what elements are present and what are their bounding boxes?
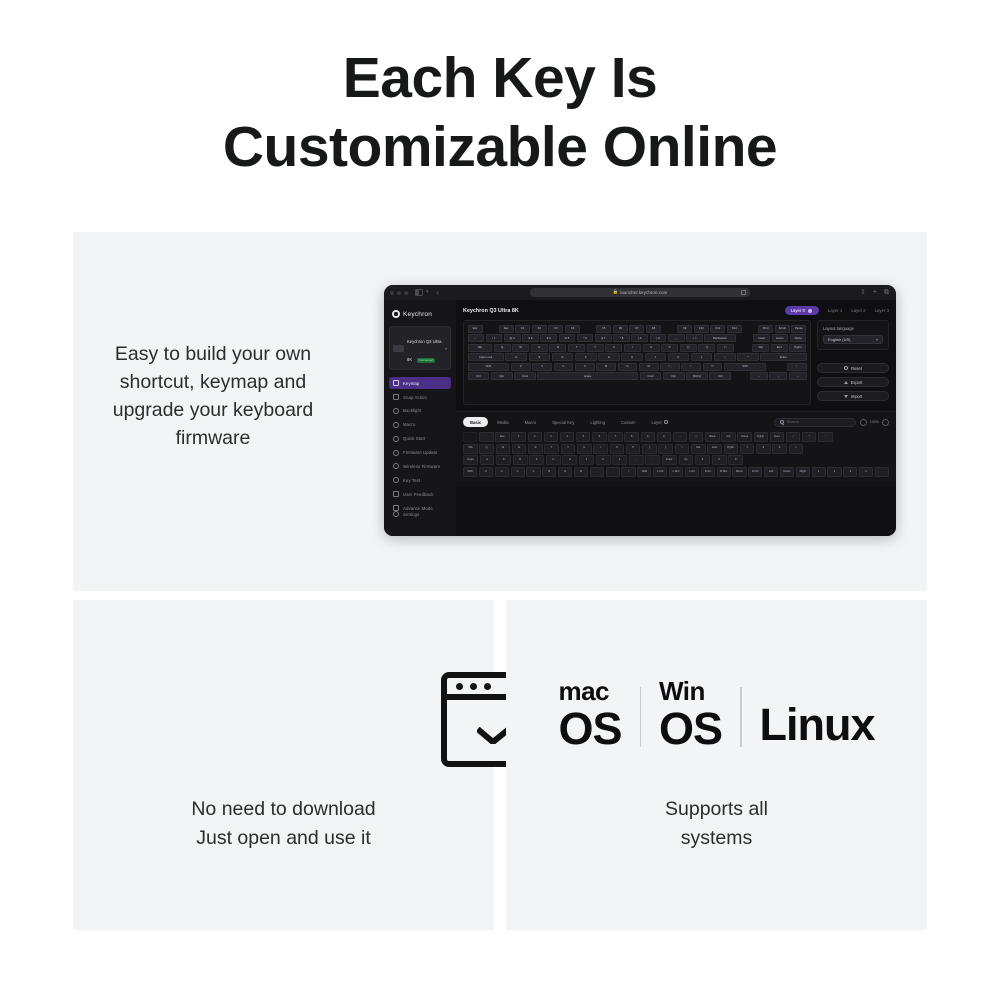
keycap[interactable]: ( 9 — [631, 334, 648, 342]
keycap[interactable]: < , — [660, 363, 680, 371]
picker-key[interactable]: ' — [645, 455, 660, 465]
picker-key[interactable]: - — [673, 432, 687, 442]
picker-tab-label: Media — [497, 420, 508, 425]
keycap[interactable]: # 3 — [522, 334, 539, 342]
picker-key[interactable]: 0 — [657, 432, 671, 442]
macos-logo: mac OS — [558, 678, 621, 751]
sidebar-item-label: Snap Action — [403, 395, 427, 400]
keycap[interactable]: ~ ` — [468, 334, 485, 342]
picker-key[interactable]: Back — [705, 432, 719, 442]
keycap[interactable]: T — [568, 344, 585, 352]
keycap[interactable]: F9 — [677, 325, 692, 333]
keyboard-and-sidepanel: EscEscF1F2F3F4F5F6F7F8F9F10F11F12PrintSc… — [463, 320, 889, 405]
keyboard-row: EscEscF1F2F3F4F5F6F7F8F9F10F11F12PrintSc… — [468, 325, 807, 333]
picker-key[interactable]: 3 — [843, 467, 857, 477]
keycap[interactable]: : ; — [714, 353, 736, 361]
picker-key[interactable]: L Alt — [685, 467, 699, 477]
keycap[interactable]: ) 0 — [650, 334, 667, 342]
picker-key[interactable]: L — [612, 455, 627, 465]
keycap[interactable]: S — [529, 353, 551, 361]
picker-key[interactable]: 6 — [592, 432, 606, 442]
picker-key[interactable]: 5 — [576, 432, 590, 442]
headline-line-2: Customizable Online — [0, 113, 1000, 182]
headline-line-1: Each Key Is — [343, 46, 658, 110]
keycap[interactable]: R — [549, 344, 566, 352]
keycap[interactable]: Shift — [468, 363, 510, 371]
feature-panel-os-support — [506, 600, 927, 930]
keycap[interactable]: $ 4 — [540, 334, 557, 342]
picker-key[interactable]: PgDn — [724, 444, 739, 454]
os-logos: mac OS Win OS Linux — [506, 678, 927, 751]
picker-key[interactable]: 7 — [740, 444, 755, 454]
keycap[interactable]: B — [596, 363, 616, 371]
picker-key[interactable]: T — [544, 444, 559, 454]
picker-key[interactable]: X — [495, 467, 509, 477]
keycap[interactable]: F1 — [515, 325, 530, 333]
picker-key[interactable]: 5 — [712, 455, 727, 465]
browser-titlebar: ▾ ‹ 🔒 launcher.keychron.com ⇧ + ⧉ — [384, 285, 896, 300]
picker-key[interactable]: + — [789, 444, 804, 454]
keycap[interactable]: H — [621, 353, 643, 361]
picker-key[interactable]: O — [610, 444, 625, 454]
keycap[interactable]: PgDn — [789, 344, 806, 352]
export-icon — [844, 381, 848, 384]
layer-tab-layer-3[interactable]: Layer 3 — [875, 308, 889, 313]
app-main-area: Keychron Q3 Ultra 8K Layer 0Layer 1Layer… — [456, 300, 896, 536]
picker-key[interactable]: , — [590, 467, 604, 477]
picker-key[interactable]: Up — [679, 455, 694, 465]
picker-key[interactable]: L Win — [669, 467, 683, 477]
keycap[interactable]: F8 — [646, 325, 661, 333]
picker-key[interactable]: Right — [796, 467, 810, 477]
keycap[interactable]: " ' — [737, 353, 759, 361]
picker-key[interactable]: 9 — [772, 444, 787, 454]
picker-key[interactable]: 9 — [641, 432, 655, 442]
keycap[interactable]: > . — [681, 363, 701, 371]
picker-key[interactable]: A — [480, 455, 495, 465]
picker-key-row: `Esc1234567890-=BackInsHomePgUpNum/*- — [463, 432, 889, 442]
keycap[interactable]: F7 — [629, 325, 644, 333]
keycap[interactable]: & 7 — [595, 334, 612, 342]
divider — [740, 687, 742, 747]
picker-key[interactable]: S — [496, 455, 511, 465]
keycap[interactable]: V — [575, 363, 595, 371]
sidebar-item-macro[interactable]: Macro — [389, 419, 451, 431]
layer-tab-layer-0[interactable]: Layer 0 — [785, 306, 819, 315]
picker-tab-label: Basic — [470, 420, 481, 425]
wireless-firmware-icon — [393, 463, 399, 469]
keyboard-row: Caps LockASDFGHJKL: ;" 'Enter — [468, 353, 807, 361]
keycap[interactable]: F12 — [727, 325, 742, 333]
sidebar-nav: KeymapSnap ActionBacklightMacroQuick Sta… — [389, 377, 451, 514]
macos-logo-small: mac — [558, 678, 609, 704]
picker-key[interactable]: E — [512, 444, 527, 454]
keycap[interactable]: → — [789, 372, 807, 380]
picker-tabs: BasicMediaMacroSpecial KeyLightingCustom… — [463, 417, 889, 427]
keycap[interactable]: Ctrl — [468, 372, 490, 380]
picker-tab-basic[interactable]: Basic — [463, 417, 488, 427]
keycap[interactable]: space — [537, 372, 638, 380]
device-status-badge: Connected — [417, 358, 436, 363]
picker-key[interactable]: Ins — [721, 432, 735, 442]
sidebar-item-label: Macro — [403, 422, 415, 427]
refresh-icon[interactable] — [741, 290, 746, 295]
picker-key[interactable]: J — [579, 455, 594, 465]
picker-key[interactable]: W — [496, 444, 511, 454]
picker-key[interactable]: Esc — [495, 432, 509, 442]
picker-key[interactable]: G — [546, 455, 561, 465]
zoom-in-icon[interactable] — [882, 419, 889, 426]
share-icon[interactable]: ⇧ — [860, 289, 866, 296]
picker-key[interactable]: \ — [675, 444, 690, 454]
keycap[interactable]: C — [554, 363, 574, 371]
keycap[interactable]: Scroll — [775, 325, 790, 333]
picker-key[interactable]: H — [562, 455, 577, 465]
picker-key[interactable]: Down — [780, 467, 794, 477]
keyboard-gap — [582, 325, 595, 333]
keycap[interactable]: A — [505, 353, 527, 361]
url-bar[interactable]: 🔒 launcher.keychron.com — [530, 288, 750, 297]
keycap[interactable]: ↑ — [787, 363, 807, 371]
keycap[interactable]: Print — [758, 325, 773, 333]
picker-key[interactable]: . — [606, 467, 620, 477]
picker-key-empty — [848, 432, 860, 442]
picker-key[interactable]: Home — [737, 432, 751, 442]
keycap[interactable]: F4 — [565, 325, 580, 333]
sidebar-item-firmware-update[interactable]: Firmware Update — [389, 446, 451, 458]
keycap[interactable]: N — [618, 363, 638, 371]
picker-key[interactable]: / — [621, 467, 635, 477]
picker-key[interactable]: Tab — [463, 444, 478, 454]
picker-key[interactable]: 8 — [756, 444, 771, 454]
layer-tab-layer-1[interactable]: Layer 1 — [828, 308, 842, 313]
keyboard-layout[interactable]: EscEscF1F2F3F4F5F6F7F8F9F10F11F12PrintSc… — [463, 320, 811, 405]
keycap[interactable]: Cmd — [640, 372, 662, 380]
keyboard-gap — [768, 363, 786, 371]
picker-key[interactable]: Menu — [732, 467, 746, 477]
keycap[interactable]: ! 1 — [486, 334, 503, 342]
keycap[interactable]: _ - — [668, 334, 685, 342]
keycap[interactable]: Z — [511, 363, 531, 371]
picker-key[interactable]: 2 — [528, 432, 542, 442]
keyboard-gap — [736, 344, 751, 352]
picker-key[interactable]: 3 — [544, 432, 558, 442]
keycap[interactable]: D — [552, 353, 574, 361]
sidebar-item-label: Backlight — [403, 408, 421, 413]
picker-key[interactable]: C — [511, 467, 525, 477]
sidebar-item-label: Quick Start — [403, 436, 425, 441]
picker-key[interactable]: 4 — [560, 432, 574, 442]
picker-key[interactable]: P — [626, 444, 641, 454]
macos-logo-big: OS — [558, 706, 621, 751]
picker-tab-lighting[interactable]: Lighting — [583, 417, 612, 427]
picker-tab-label: Custom — [621, 420, 635, 425]
sidebar-item-settings[interactable]: Settings — [389, 508, 451, 522]
keycap[interactable]: | \ — [717, 344, 734, 352]
sidebar-item-label: Wireless Firmware — [403, 464, 440, 469]
keycap[interactable]: Opt — [491, 372, 513, 380]
keycap[interactable]: MO(1) — [686, 372, 708, 380]
keycap[interactable]: L — [691, 353, 713, 361]
keycap[interactable]: Del — [752, 344, 769, 352]
backlight-icon — [393, 408, 399, 414]
keycap[interactable]: % 5 — [559, 334, 576, 342]
picker-key[interactable]: Shift — [463, 467, 477, 477]
keycap[interactable]: F6 — [613, 325, 628, 333]
picker-key[interactable]: Caps — [463, 455, 478, 465]
picker-key[interactable]: R Ctrl — [748, 467, 762, 477]
picker-key[interactable]: ] — [658, 444, 673, 454]
picker-key[interactable]: I — [593, 444, 608, 454]
picker-tab-layer[interactable]: Layer — [644, 417, 674, 427]
keyboard-row: ShiftZXCVBNM< ,> .? /Shift↑ — [468, 363, 807, 371]
keycap[interactable]: } ] — [698, 344, 715, 352]
keycap[interactable]: Y — [587, 344, 604, 352]
quick-start-icon — [393, 436, 399, 442]
picker-key[interactable]: Q — [479, 444, 494, 454]
keycap[interactable]: O — [643, 344, 660, 352]
picker-key[interactable]: End — [707, 444, 722, 454]
reset-icon — [844, 366, 848, 370]
keycap[interactable]: Caps Lock — [468, 353, 504, 361]
keycap[interactable]: Shift — [724, 363, 766, 371]
picker-key-row: ShiftZXCVBNM,./ShiftL CtrlL WinL AltR Al… — [463, 467, 889, 477]
keycap[interactable]: End — [771, 344, 788, 352]
keycap[interactable]: Insert — [753, 334, 770, 342]
export-button[interactable]: Export — [817, 377, 889, 387]
keycap[interactable]: Tab — [468, 344, 493, 352]
device-thumbnail-icon — [393, 345, 404, 352]
picker-key[interactable]: R — [528, 444, 543, 454]
keycap[interactable]: ^ 6 — [577, 334, 594, 342]
picker-key[interactable]: R Alt — [701, 467, 715, 477]
picker-key[interactable]: U — [577, 444, 592, 454]
keycap[interactable]: F11 — [710, 325, 725, 333]
picker-key[interactable]: = — [689, 432, 703, 442]
keycap[interactable]: P — [661, 344, 678, 352]
picker-key-empty — [789, 455, 802, 465]
picker-key-empty — [862, 444, 875, 454]
picker-key[interactable]: N — [558, 467, 572, 477]
picker-key[interactable]: Num — [770, 432, 784, 442]
keyboard-gap — [744, 325, 757, 333]
picker-key[interactable]: 8 — [624, 432, 638, 442]
keycap[interactable]: W — [512, 344, 529, 352]
picker-key[interactable]: R Win — [717, 467, 731, 477]
keycap[interactable]: Esc — [468, 325, 483, 333]
keycap[interactable]: F10 — [694, 325, 709, 333]
picker-key[interactable]: / — [786, 432, 800, 442]
picker-key-empty — [861, 455, 874, 465]
picker-key[interactable]: B — [542, 467, 556, 477]
keycap[interactable]: Opt — [663, 372, 685, 380]
keycap[interactable]: Pause — [791, 325, 806, 333]
picker-key[interactable]: Enter — [662, 455, 677, 465]
zoom-out-icon[interactable] — [860, 419, 867, 426]
window-controls[interactable] — [390, 291, 408, 295]
keycap[interactable]: ↓ — [769, 372, 787, 380]
linux-logo: Linux — [760, 699, 875, 751]
macro-icon — [393, 422, 399, 428]
picker-tab-macro[interactable]: Macro — [518, 417, 544, 427]
chevron-down-icon[interactable]: ▾ — [445, 346, 447, 351]
layer-tabs: Layer 0Layer 1Layer 2Layer 3 — [785, 306, 889, 315]
keycap[interactable]: ? / — [703, 363, 723, 371]
zoom-controls: 100% — [860, 419, 889, 426]
picker-key[interactable]: L Ctrl — [653, 467, 667, 477]
layout-language-select[interactable]: English (US) ▾ — [823, 335, 883, 344]
search-icon — [780, 420, 784, 424]
sidebar-item-label: User Feedback — [403, 492, 433, 497]
firmware-update-icon — [393, 450, 399, 456]
layout-side-panel: Layout language English (US) ▾ Reset — [817, 320, 889, 405]
picker-key[interactable]: K — [596, 455, 611, 465]
keycap[interactable]: ← — [750, 372, 768, 380]
sidebar-toggle-icon[interactable] — [415, 289, 423, 296]
chevron-down-icon[interactable]: ▾ — [426, 290, 429, 295]
info-icon — [664, 420, 668, 424]
picker-key[interactable]: 7 — [608, 432, 622, 442]
keycap[interactable]: F — [575, 353, 597, 361]
browser-toolbar-right: ⇧ + ⧉ — [860, 289, 889, 296]
sidebar-item-label: Key Test — [403, 478, 420, 483]
picker-key[interactable]: Left — [764, 467, 778, 477]
picker-tools: Search 100% — [774, 418, 889, 427]
keycap[interactable]: @ 2 — [504, 334, 521, 342]
sidebar-item-backlight[interactable]: Backlight — [389, 405, 451, 417]
keycap[interactable]: F5 — [596, 325, 611, 333]
picker-tab-label: Layer — [651, 420, 661, 425]
keycap[interactable]: J — [645, 353, 667, 361]
picker-key[interactable]: M — [574, 467, 588, 477]
chevron-down-icon: ▾ — [876, 337, 878, 342]
picker-tab-custom[interactable]: Custom — [614, 417, 642, 427]
picker-key[interactable]: Z — [479, 467, 493, 477]
picker-key[interactable]: - — [818, 432, 832, 442]
device-selector[interactable]: Keychron Q3 Ultra 8K Connected ▾ — [389, 326, 451, 370]
os-support-caption: Supports all systems — [506, 795, 927, 853]
sidebar-item-keymap[interactable]: Keymap — [389, 377, 451, 389]
page-title: Each Key Is Customizable Online — [0, 44, 1000, 182]
picker-key[interactable]: Del — [691, 444, 706, 454]
app-sidebar: Keychron Keychron Q3 Ultra 8K Connected … — [384, 300, 456, 536]
reset-label: Reset — [851, 366, 862, 371]
layout-language-value: English (US) — [828, 337, 850, 342]
picker-key-empty — [745, 455, 758, 465]
user-feedback-icon — [393, 491, 399, 497]
picker-key[interactable]: 2 — [827, 467, 841, 477]
picker-key[interactable]: F — [529, 455, 544, 465]
keycap[interactable]: I — [624, 344, 641, 352]
key-test-icon — [393, 477, 399, 483]
keyboard-gap — [484, 325, 497, 333]
picker-key[interactable]: ` — [479, 432, 493, 442]
picker-key[interactable]: 1 — [511, 432, 525, 442]
picker-key[interactable]: Shift — [637, 467, 651, 477]
picker-tab-special-key[interactable]: Special Key — [545, 417, 581, 427]
sidebar-item-snap-action[interactable]: Snap Action — [389, 391, 451, 403]
winos-logo-big: OS — [659, 706, 722, 751]
picker-key[interactable]: PgUp — [754, 432, 768, 442]
keycap[interactable]: Cmd — [514, 372, 536, 380]
picker-tab-media[interactable]: Media — [490, 417, 515, 427]
keycap[interactable]: { [ — [680, 344, 697, 352]
search-input[interactable]: Search — [774, 418, 856, 427]
keycap[interactable]: Home — [772, 334, 789, 342]
keycap[interactable]: Backspace — [704, 334, 735, 342]
brand-logo: Keychron — [392, 310, 451, 318]
keycap[interactable]: Q — [494, 344, 511, 352]
picker-key-empty — [774, 455, 787, 465]
keycap[interactable]: X — [532, 363, 552, 371]
keycap[interactable]: F3 — [548, 325, 563, 333]
picker-key-blank[interactable] — [463, 432, 477, 442]
keycap[interactable]: * 8 — [613, 334, 630, 342]
sidebar-item-user-feedback[interactable]: User Feedback — [389, 488, 451, 500]
plus-icon[interactable]: + — [873, 289, 877, 296]
layer-tab-layer-2[interactable]: Layer 2 — [851, 308, 865, 313]
picker-key[interactable]: 4 — [695, 455, 710, 465]
picker-key[interactable]: 6 — [728, 455, 743, 465]
sidebar-item-quick-start[interactable]: Quick Start — [389, 433, 451, 445]
keycap[interactable]: Esc — [499, 325, 514, 333]
app-body: Keychron Keychron Q3 Ultra 8K Connected … — [384, 300, 896, 536]
keycap[interactable]: K — [668, 353, 690, 361]
sidebar-item-wireless-firmware[interactable]: Wireless Firmware — [389, 460, 451, 472]
reset-button[interactable]: Reset — [817, 363, 889, 373]
keyboard-row: TabQWERTYUIOP{ [} ]| \DelEndPgDn — [468, 344, 807, 352]
keycap[interactable]: E — [531, 344, 548, 352]
picker-tab-label: Lighting — [590, 420, 605, 425]
picker-key-empty — [832, 455, 845, 465]
picker-key[interactable]: 1 — [812, 467, 826, 477]
keycap[interactable]: G — [598, 353, 620, 361]
import-button[interactable]: Import — [817, 391, 889, 401]
gear-icon — [393, 511, 399, 517]
import-icon — [844, 395, 848, 398]
keycap[interactable]: Enter — [760, 353, 806, 361]
keycap[interactable]: PgUp — [790, 334, 807, 342]
keycap[interactable]: M — [639, 363, 659, 371]
chevron-left-icon[interactable]: ‹ — [437, 289, 440, 297]
zoom-level: 100% — [870, 420, 879, 424]
tab-overview-icon[interactable]: ⧉ — [884, 289, 889, 296]
sidebar-item-label: Firmware Update — [403, 450, 437, 455]
snap-action-icon — [393, 394, 399, 400]
keycap[interactable]: U — [605, 344, 622, 352]
picker-key[interactable]: . — [875, 467, 889, 477]
picker-key[interactable]: [ — [642, 444, 657, 454]
sidebar-item-key-test[interactable]: Key Test — [389, 474, 451, 486]
picker-key[interactable]: ; — [629, 455, 644, 465]
main-header: Keychron Q3 Ultra 8K Layer 0Layer 1Layer… — [463, 306, 889, 315]
keycap[interactable]: Ctrl — [709, 372, 731, 380]
picker-key[interactable]: V — [526, 467, 540, 477]
caption-line-2: systems — [506, 824, 927, 853]
picker-key[interactable]: * — [802, 432, 816, 442]
keycap[interactable]: + = — [686, 334, 703, 342]
keyboard-gap — [733, 372, 749, 380]
picker-key[interactable]: D — [513, 455, 528, 465]
picker-key[interactable]: Y — [561, 444, 576, 454]
caption-line-2: Just open and use it — [73, 824, 494, 853]
keycap[interactable]: F2 — [532, 325, 547, 333]
picker-key[interactable]: 0 — [859, 467, 873, 477]
winos-logo-small: Win — [659, 678, 705, 704]
keyboard-title: Keychron Q3 Ultra 8K — [463, 308, 519, 314]
picker-tab-label: Macro — [525, 420, 537, 425]
picker-key-grid[interactable]: `Esc1234567890-=BackInsHomePgUpNum/*-Tab… — [463, 432, 889, 477]
